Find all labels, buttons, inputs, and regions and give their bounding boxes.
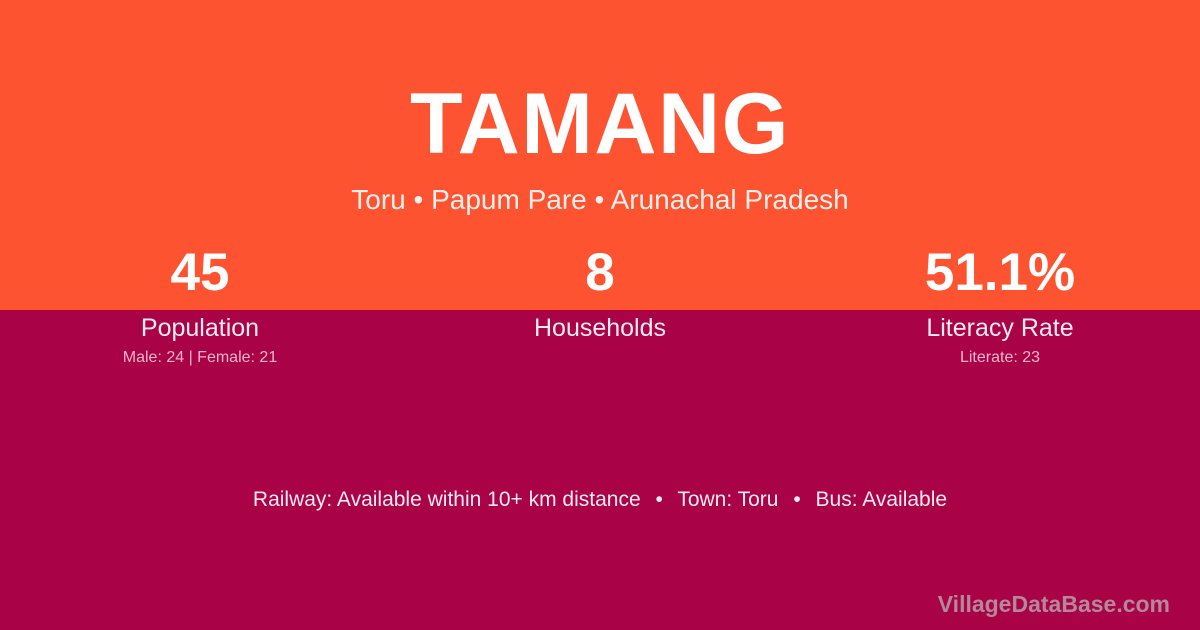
facility-bus: Bus: Available: [816, 488, 948, 511]
facilities-line: Railway: Available within 10+ km distanc…: [0, 487, 1200, 513]
page-title: TAMANG: [0, 74, 1200, 174]
stat-label-population: Population: [0, 313, 400, 343]
stat-value-literacy-rate: 51.1%: [800, 243, 1200, 303]
stat-sub-literacy-rate: Literate: 23: [800, 348, 1200, 368]
breadcrumb: Toru • Papum Pare • Arunachal Pradesh: [0, 183, 1200, 217]
facility-railway: Railway: Available within 10+ km distanc…: [253, 488, 641, 511]
hero-section: TAMANG Toru • Papum Pare • Arunachal Pra…: [0, 0, 1200, 240]
stats-row: 45 Population Male: 24 | Female: 21 8 Ho…: [0, 243, 1200, 383]
stat-literacy-rate: 51.1% Literacy Rate Literate: 23: [800, 243, 1200, 383]
village-info-card: TAMANG Toru • Papum Pare • Arunachal Pra…: [0, 0, 1200, 630]
stat-label-households: Households: [400, 313, 800, 343]
site-brand: VillageDataBase.com: [938, 590, 1170, 618]
stat-population: 45 Population Male: 24 | Female: 21: [0, 243, 400, 383]
stat-value-households: 8: [400, 243, 800, 303]
stat-sub-population: Male: 24 | Female: 21: [0, 348, 400, 368]
stat-label-literacy-rate: Literacy Rate: [800, 313, 1200, 343]
facility-town: Town: Toru: [677, 488, 778, 511]
stat-households: 8 Households: [400, 243, 800, 383]
stat-value-population: 45: [0, 243, 400, 303]
facility-separator-1: •: [646, 487, 671, 513]
facility-separator-2: •: [784, 487, 809, 513]
